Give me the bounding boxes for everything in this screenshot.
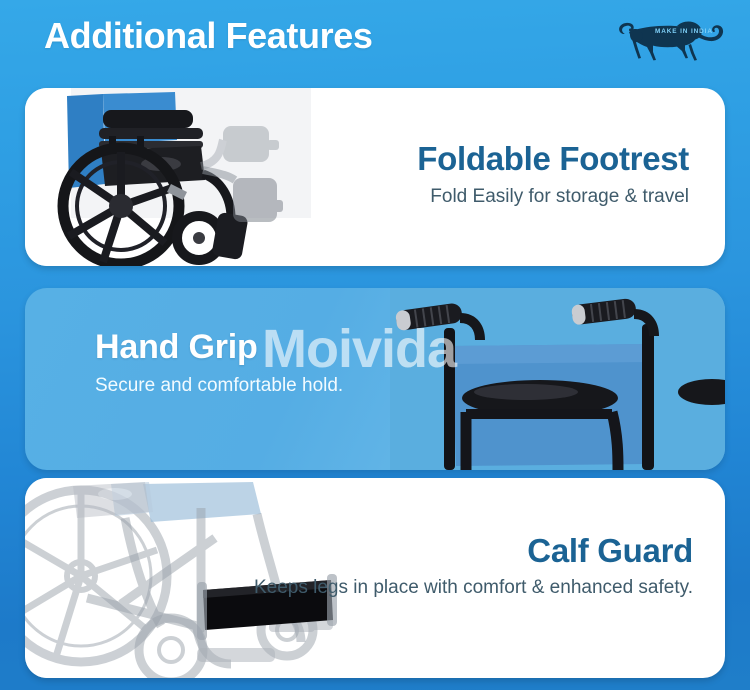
page-title: Additional Features: [44, 15, 372, 57]
wheelchair-hand-grip-photo: [390, 288, 725, 470]
card-text-foldable-footrest: Foldable Footrest Fold Easily for storag…: [417, 142, 689, 208]
logo-text: MAKE IN INDIA: [655, 28, 713, 35]
feature-card-foldable-footrest: Foldable Footrest Fold Easily for storag…: [25, 88, 725, 266]
make-in-india-lion-icon: MAKE IN INDIA: [615, 8, 725, 70]
header: Additional Features MAKE IN I: [0, 0, 750, 80]
feature-title: Hand Grip: [95, 330, 343, 365]
card-text-hand-grip: Hand Grip Secure and comfortable hold.: [95, 330, 343, 397]
feature-subtitle: Keeps legs in place with comfort & enhan…: [254, 576, 693, 599]
feature-title: Calf Guard: [254, 534, 693, 568]
feature-card-calf-guard: Calf Guard Keeps legs in place with comf…: [25, 478, 725, 678]
feature-card-hand-grip: Hand Grip Secure and comfortable hold.: [25, 288, 725, 470]
card-text-calf-guard: Calf Guard Keeps legs in place with comf…: [254, 534, 693, 599]
feature-subtitle: Fold Easily for storage & travel: [417, 185, 689, 208]
additional-features-infographic: Additional Features MAKE IN I: [0, 0, 750, 690]
wheelchair-footrest-photo: [25, 88, 355, 266]
feature-title: Foldable Footrest: [417, 142, 689, 176]
feature-subtitle: Secure and comfortable hold.: [95, 374, 343, 397]
